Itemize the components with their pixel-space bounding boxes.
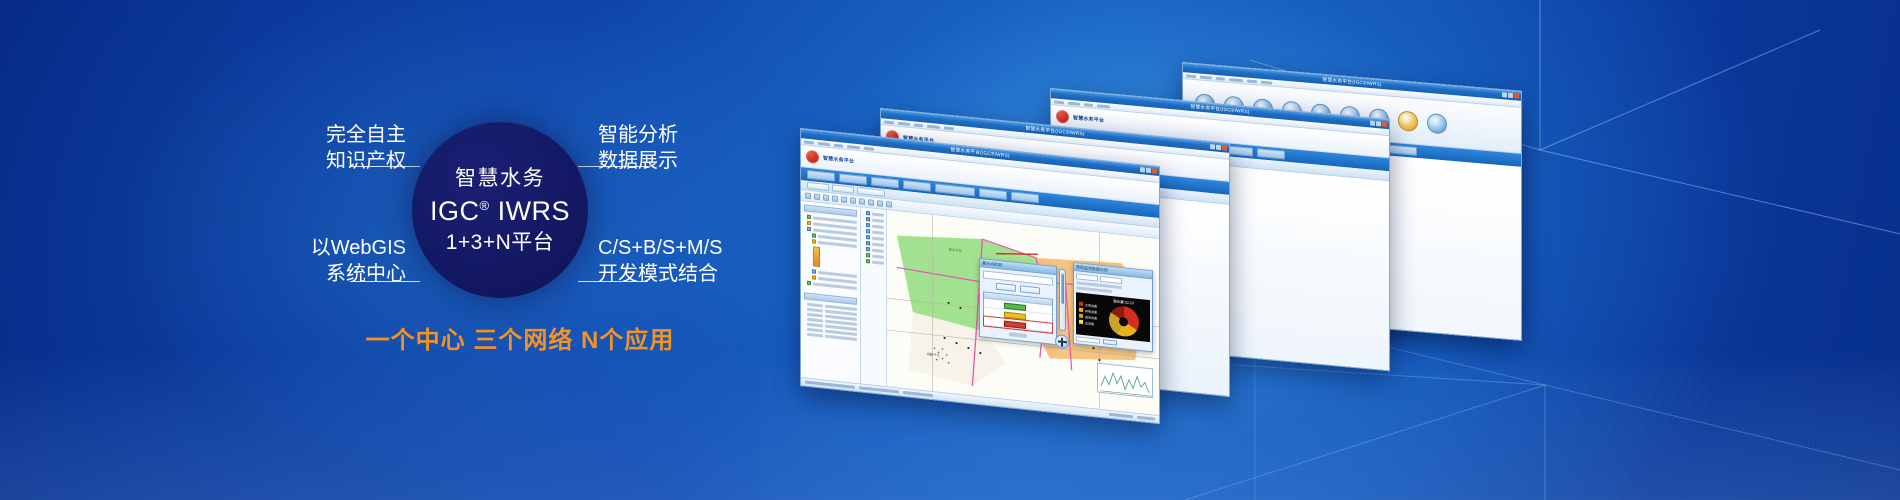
registered-trademark-icon: ®: [479, 198, 489, 213]
refresh-icon[interactable]: [886, 201, 892, 208]
feature-label-top-left-line1: 完全自主: [246, 122, 406, 148]
zoom-in-icon[interactable]: [832, 195, 838, 202]
mini-trend-chart: [1097, 362, 1153, 398]
feature-label-top-right-line1: 智能分析: [598, 122, 788, 148]
identify-icon[interactable]: [877, 200, 883, 207]
pie-chart-legend: 正常流量 异常流量 夜间流量 总流量: [1079, 302, 1097, 327]
company-logo-icon: [806, 150, 819, 164]
emblem-line-2: IGC® IWRS: [430, 198, 570, 225]
gis-map-canvas[interactable]: 管网运行监测区域 城北片区城东片区 城南片区: [887, 210, 1159, 415]
nav-tab-3[interactable]: [903, 180, 931, 192]
window-front[interactable]: 智慧水务平台(IGC®IWRS) 智慧水务平台: [800, 128, 1160, 424]
window-front-controls[interactable]: [1140, 167, 1157, 174]
leak-results-table[interactable]: [983, 291, 1053, 333]
window-third-brand: 智慧水务平台: [1073, 114, 1104, 124]
emblem-brand-igc: IGC: [430, 196, 480, 226]
save-icon[interactable]: [814, 193, 820, 200]
select-icon[interactable]: [859, 198, 865, 205]
window-back-controls[interactable]: [1502, 92, 1519, 98]
feature-label-bottom-right-line2: 开发模式结合: [598, 261, 788, 287]
nav-tab-5[interactable]: [979, 188, 1007, 200]
layer-color-ramp: [813, 246, 820, 267]
emblem-line-1: 智慧水务: [455, 168, 545, 189]
nav-tab-2[interactable]: [871, 177, 899, 189]
print-icon[interactable]: [823, 194, 829, 201]
open-icon[interactable]: [805, 193, 811, 200]
measure-icon[interactable]: [868, 199, 874, 206]
window-front-brand: 智慧水务平台: [823, 154, 854, 164]
banner-tagline: 一个中心 三个网络 N个应用: [330, 320, 710, 355]
layer-tree-panel[interactable]: [801, 201, 861, 383]
map-zoom-slider[interactable]: [1059, 268, 1066, 331]
zoom-out-icon[interactable]: [841, 196, 847, 203]
company-logo-icon: [1056, 110, 1069, 124]
feature-label-top-right: 智能分析 数据展示: [598, 122, 788, 175]
feature-label-bottom-left: 以WebGIS 系统中心: [246, 235, 406, 288]
nav-tab-0[interactable]: [807, 170, 835, 182]
banner-stage: 智慧水务平台(IGC®IWRS): [0, 0, 1900, 500]
tool-palette[interactable]: [861, 207, 887, 386]
window-third-controls[interactable]: [1370, 120, 1387, 127]
platform-emblem: 智慧水务 IGC® IWRS 1+3+N平台: [412, 122, 588, 298]
nav-tab-6[interactable]: [1011, 191, 1039, 203]
feature-label-bottom-right: C/S+B/S+M/S 开发模式结合: [598, 235, 788, 288]
window-second-controls[interactable]: [1210, 144, 1227, 151]
feature-label-top-right-line2: 数据展示: [598, 148, 788, 174]
feature-label-bottom-right-line1: C/S+B/S+M/S: [598, 235, 788, 261]
emblem-brand-iwrs: IWRS: [498, 196, 571, 226]
leak-detection-dialog[interactable]: 漏水点检测: [979, 258, 1057, 345]
feature-label-top-left-line2: 知识产权: [246, 148, 406, 174]
monitoring-analysis-dialog[interactable]: 管网监测数据分析 正常流量: [1073, 262, 1153, 352]
sub-tab-1[interactable]: [832, 184, 854, 193]
nav-tab-1[interactable]: [839, 173, 867, 185]
feature-label-bottom-left-line1: 以WebGIS: [246, 235, 406, 261]
emblem-line-3: 1+3+N平台: [446, 232, 555, 253]
sub-tab-0[interactable]: [807, 182, 829, 191]
pan-icon[interactable]: [850, 197, 856, 204]
leak-volume-pie-chart: [1109, 305, 1139, 338]
feature-label-bottom-left-line2: 系统中心: [246, 261, 406, 287]
feature-label-top-left: 完全自主 知识产权: [246, 122, 406, 175]
pie-chart-panel: 正常流量 异常流量 夜间流量 总流量 漏水量:52.23: [1076, 292, 1150, 342]
